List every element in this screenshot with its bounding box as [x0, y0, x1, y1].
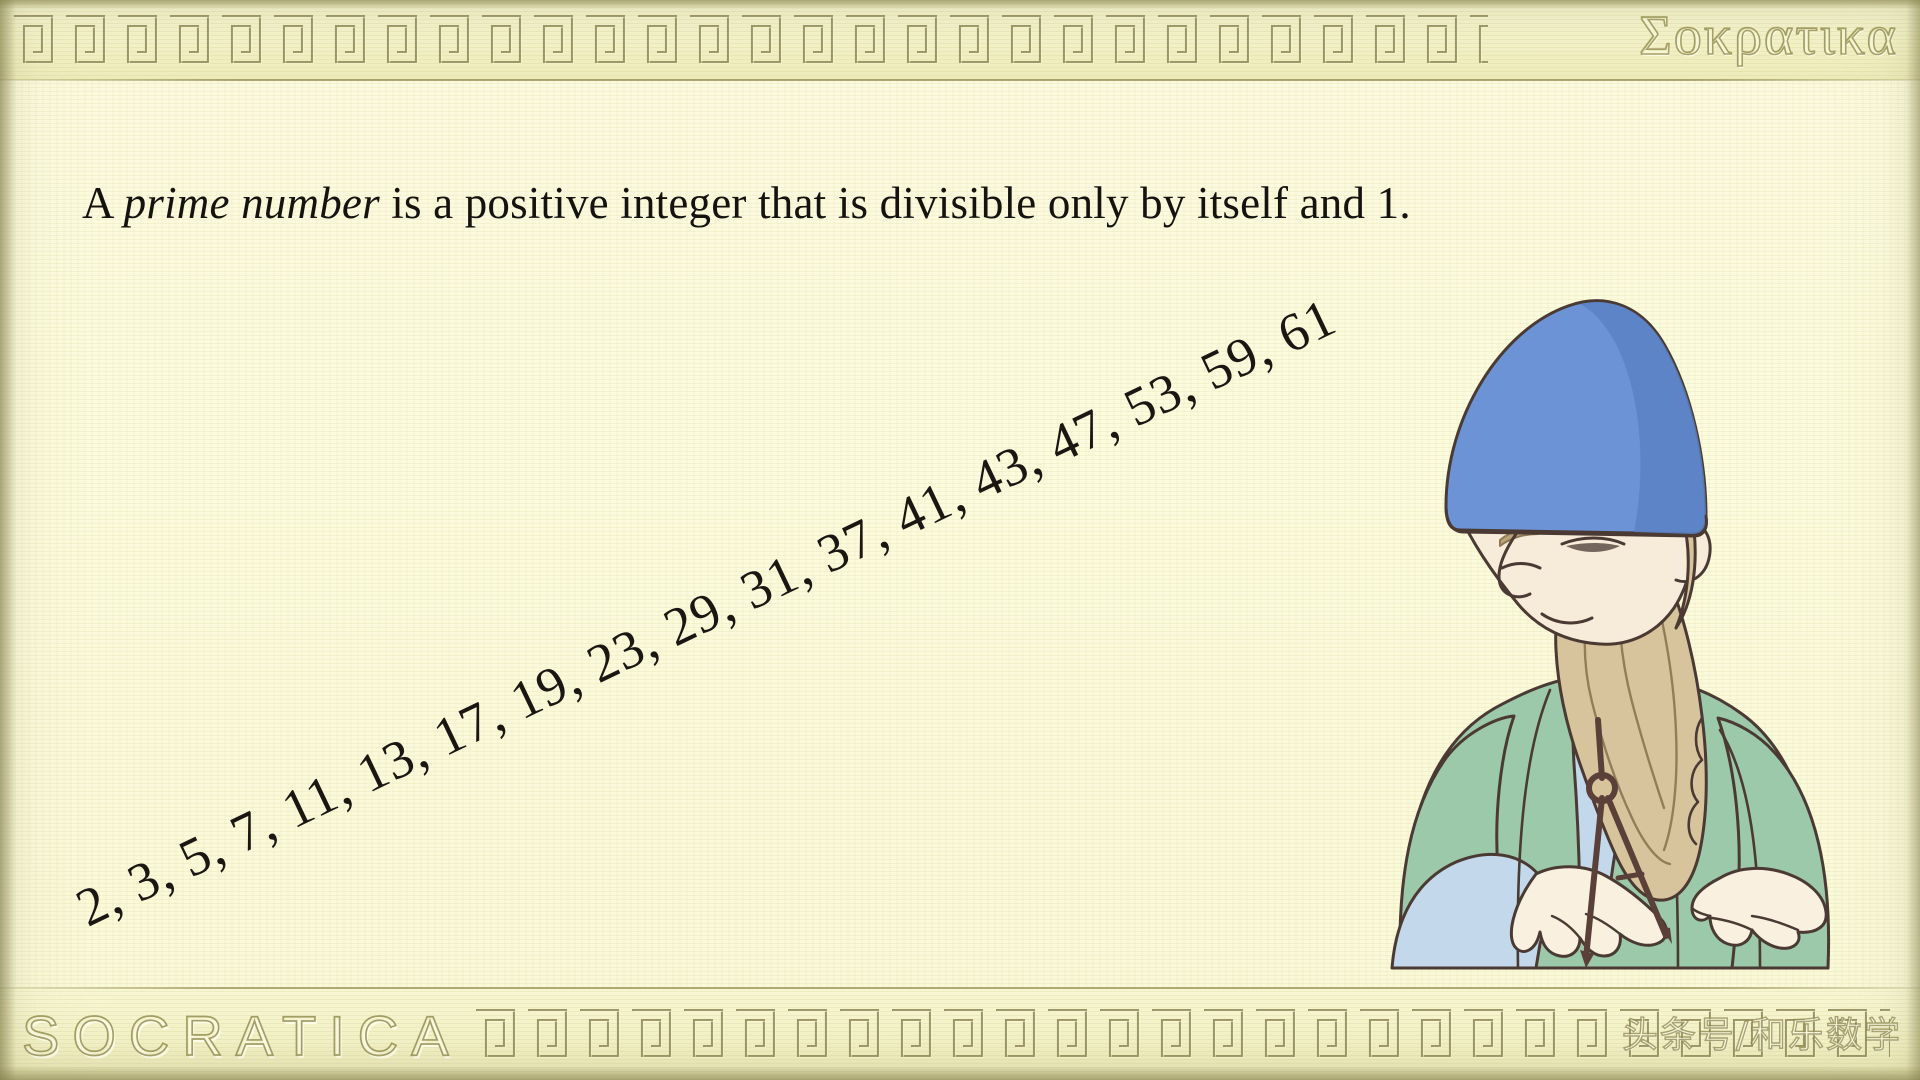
prime-sequence-text: 2, 3, 5, 7, 11, 13, 17, 19, 23, 29, 31, …	[67, 286, 1346, 939]
brand-greek-wordmark: Σοκρατικα	[1639, 4, 1898, 68]
channel-watermark: 头条号/和乐数学	[1622, 1006, 1902, 1058]
header-rule	[0, 79, 1920, 81]
definition-sentence: A prime number is a positive integer tha…	[82, 178, 1411, 230]
definition-lead: A	[82, 178, 124, 228]
definition-term: prime number	[124, 178, 380, 228]
brand-latin-wordmark: SOCRATICA	[22, 1003, 462, 1068]
edge-shadow-left	[0, 0, 16, 1080]
slide-canvas: Σοκρατικα A prime number is a positive i…	[0, 0, 1920, 1080]
edge-shadow-top	[0, 0, 1920, 9]
socrates-illustration	[1250, 278, 1890, 988]
greek-key-meander-top	[8, 12, 1488, 66]
edge-shadow-right	[1906, 0, 1920, 1080]
definition-rest: is a positive integer that is divisible …	[380, 178, 1411, 228]
edge-shadow-bottom	[0, 1066, 1920, 1080]
